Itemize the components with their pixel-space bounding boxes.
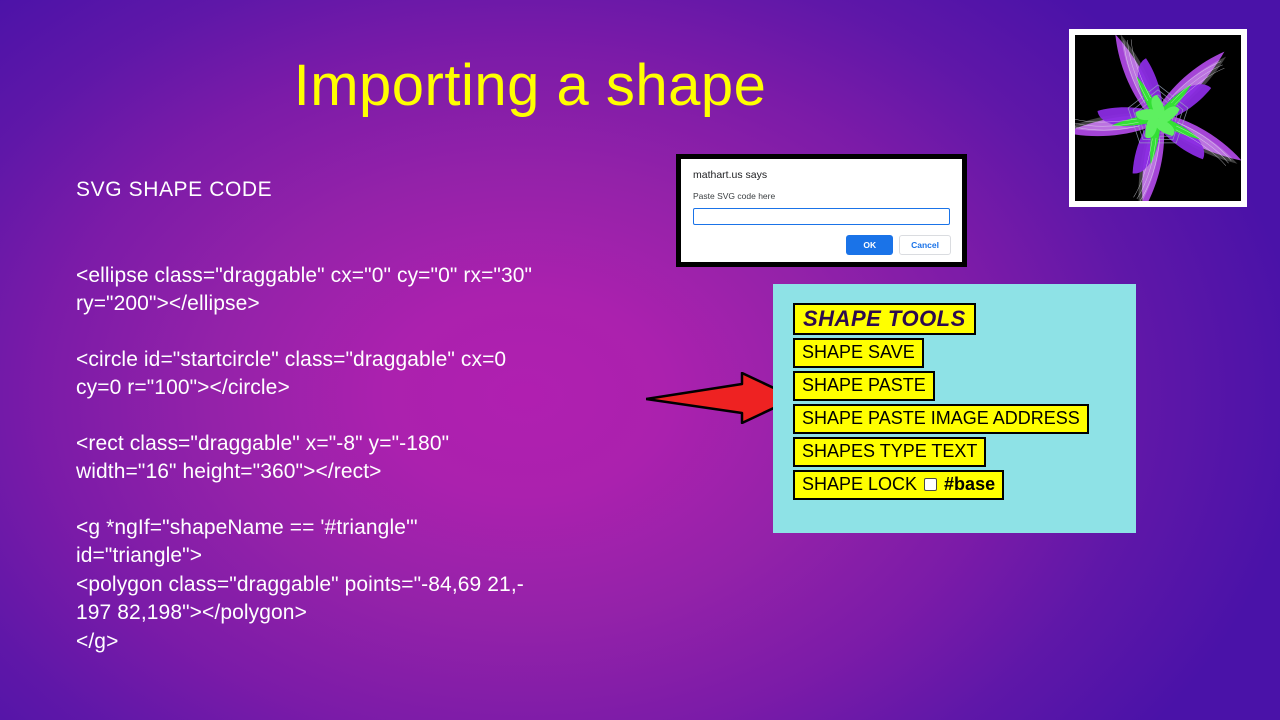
code-block-ellipse: <ellipse class="draggable" cx="0" cy="0"… [76, 262, 646, 319]
cancel-button[interactable]: Cancel [899, 235, 951, 255]
shape-lock-tag: #base [944, 475, 995, 494]
dialog-prompt-label: Paste SVG code here [693, 191, 950, 201]
shape-tools-title: SHAPE TOOLS [793, 303, 976, 335]
slide-canvas: Importing a shape SVG SHAPE CODE <ellips… [0, 0, 1280, 720]
code-line: width="16" height="360"></rect> [76, 458, 646, 487]
spiral-rosette-artwork-icon [1075, 35, 1241, 201]
shapes-type-text-button[interactable]: SHAPES TYPE TEXT [793, 437, 986, 467]
svg-code-input[interactable] [693, 208, 950, 225]
code-block-triangle-group: <g *ngIf="shapeName == '#triangle'" id="… [76, 514, 646, 657]
shape-save-button[interactable]: SHAPE SAVE [793, 338, 924, 368]
artwork-thumbnail [1069, 29, 1247, 207]
code-line: id="triangle"> [76, 542, 646, 571]
shape-lock-checkbox[interactable] [924, 478, 937, 491]
shape-paste-image-address-button[interactable]: SHAPE PASTE IMAGE ADDRESS [793, 404, 1089, 434]
code-line: cy=0 r="100"></circle> [76, 374, 646, 403]
code-line: <circle id="startcircle" class="draggabl… [76, 346, 646, 375]
dialog-origin-label: mathart.us says [693, 169, 950, 182]
dialog-button-row: OK Cancel [846, 235, 951, 255]
code-block-circle: <circle id="startcircle" class="draggabl… [76, 346, 646, 403]
code-line: 197 82,198"></polygon> [76, 599, 646, 628]
code-block-rect: <rect class="draggable" x="-8" y="-180" … [76, 430, 646, 487]
svg-shape-code-block: SVG SHAPE CODE <ellipse class="draggable… [76, 176, 646, 657]
shape-lock-label: SHAPE LOCK [802, 475, 917, 494]
code-line: <rect class="draggable" x="-8" y="-180" [76, 430, 646, 459]
ok-button[interactable]: OK [846, 235, 893, 255]
browser-prompt-dialog: mathart.us says Paste SVG code here OK C… [676, 154, 967, 267]
shape-tools-list: SHAPE TOOLS SHAPE SAVE SHAPE PASTE SHAPE… [793, 303, 1089, 500]
body-heading: SVG SHAPE CODE [76, 176, 646, 205]
code-line: </g> [76, 628, 646, 657]
page-title: Importing a shape [0, 54, 1060, 118]
code-line: <ellipse class="draggable" cx="0" cy="0"… [76, 262, 646, 291]
code-line: <polygon class="draggable" points="-84,6… [76, 571, 646, 600]
shape-tools-panel: SHAPE TOOLS SHAPE SAVE SHAPE PASTE SHAPE… [773, 284, 1136, 533]
shape-lock-row[interactable]: SHAPE LOCK #base [793, 470, 1004, 500]
code-line: ry="200"></ellipse> [76, 290, 646, 319]
shape-paste-button[interactable]: SHAPE PASTE [793, 371, 935, 401]
code-line: <g *ngIf="shapeName == '#triangle'" [76, 514, 646, 543]
